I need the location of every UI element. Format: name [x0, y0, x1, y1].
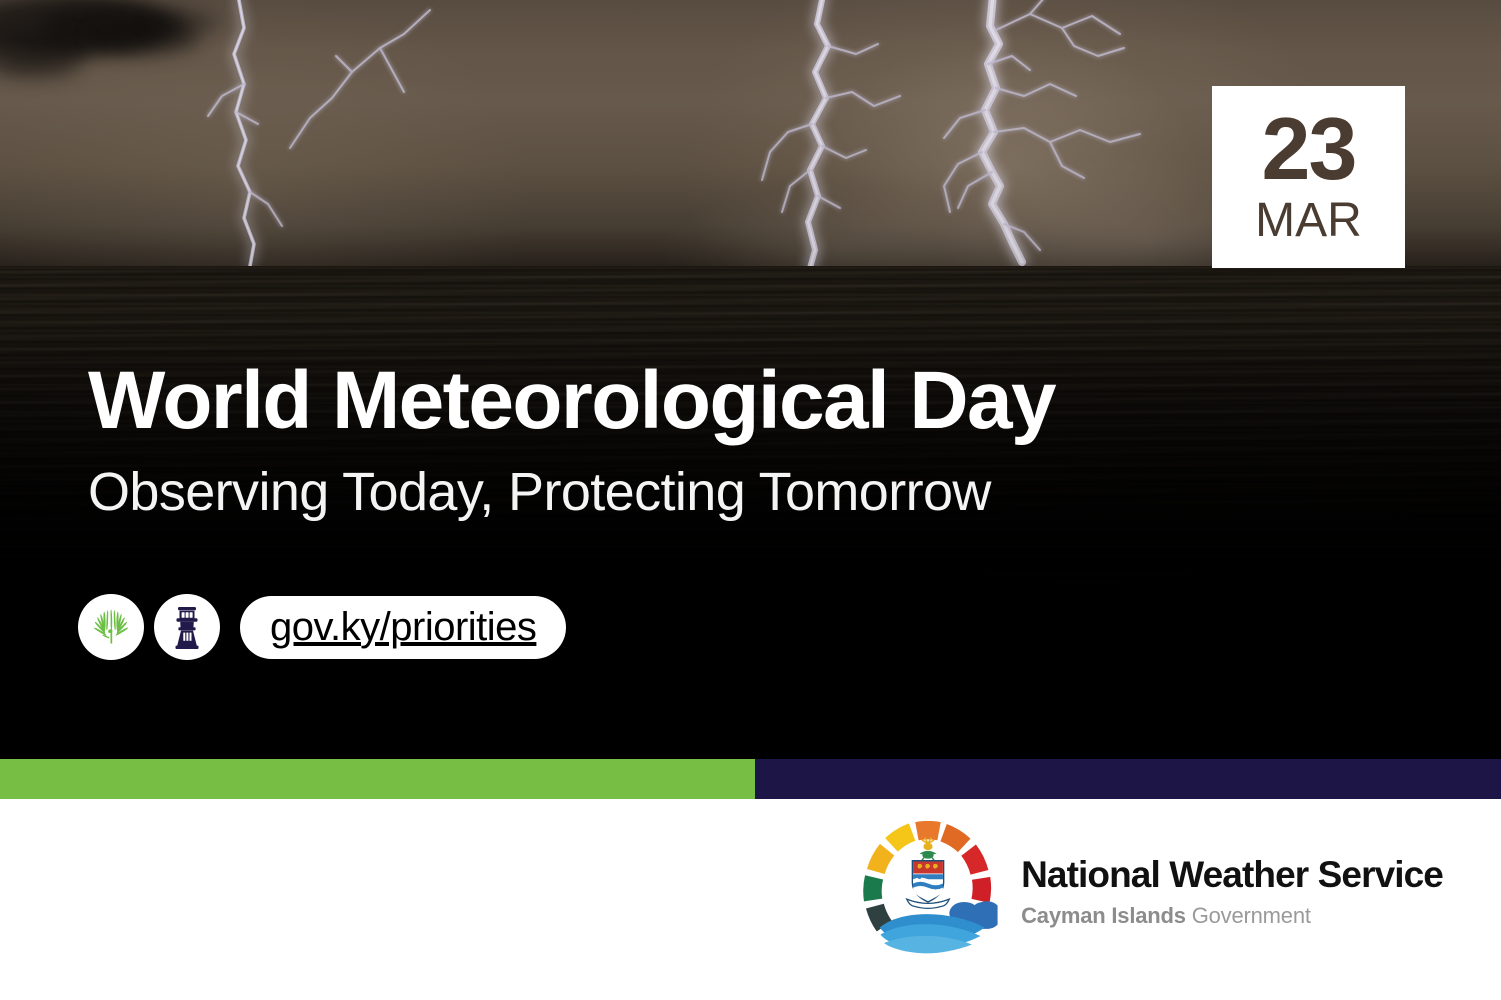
cayman-islands-government-logo-icon	[857, 821, 999, 963]
brand-color-stripe	[0, 759, 1501, 799]
palm-leaf-icon	[87, 603, 135, 651]
brand-row: gov.ky/priorities	[78, 594, 566, 660]
stripe-segment-navy	[755, 759, 1501, 799]
footer-text-block: National Weather Service Cayman Islands …	[1021, 856, 1443, 928]
palm-leaf-badge	[78, 594, 144, 660]
lighthouse-badge	[154, 594, 220, 660]
date-badge: 23 MAR	[1212, 86, 1405, 268]
government-line: Cayman Islands Government	[1021, 904, 1443, 928]
date-day: 23	[1262, 109, 1356, 188]
organisation-name: National Weather Service	[1021, 856, 1443, 895]
government-line-rest: Government	[1186, 903, 1311, 928]
page-title: World Meteorological Day	[88, 360, 1348, 442]
stripe-segment-green	[0, 759, 755, 799]
footer-bar: National Weather Service Cayman Islands …	[0, 799, 1501, 1000]
lighthouse-icon	[165, 602, 209, 652]
page-subtitle: Observing Today, Protecting Tomorrow	[88, 464, 1348, 521]
government-line-bold: Cayman Islands	[1021, 903, 1186, 928]
date-month: MAR	[1255, 197, 1362, 245]
headline-block: World Meteorological Day Observing Today…	[88, 360, 1348, 521]
coat-of-arms-icon	[907, 838, 950, 908]
poster-canvas: 23 MAR World Meteorological Day Observin…	[0, 0, 1501, 1000]
url-pill-button[interactable]: gov.ky/priorities	[240, 596, 566, 659]
footer-logo-group: National Weather Service Cayman Islands …	[857, 821, 1443, 963]
